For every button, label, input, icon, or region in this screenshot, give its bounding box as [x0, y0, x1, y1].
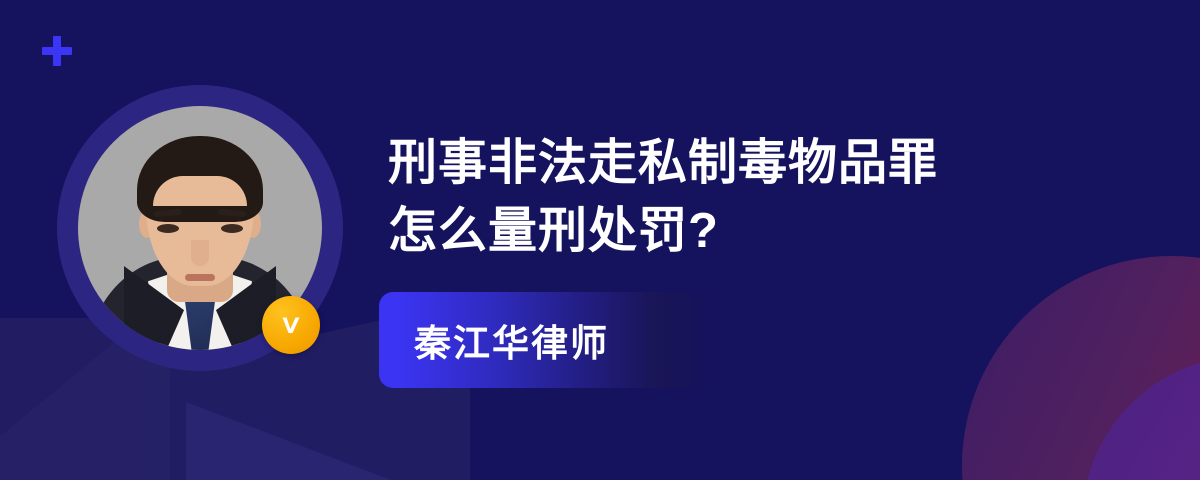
portrait-mouth [185, 274, 215, 281]
plus-icon [42, 36, 72, 66]
portrait-hair [137, 136, 263, 222]
question-title: 刑事非法走私制毒物品罪 怎么量刑处罚? [388, 130, 1088, 265]
portrait-nose [191, 240, 209, 266]
lawyer-name-badge[interactable]: 秦江华律师 [379, 292, 719, 388]
lawyer-question-banner: 刑事非法走私制毒物品罪 怎么量刑处罚? 秦江华律师 [0, 0, 1200, 480]
check-v-icon [276, 310, 306, 340]
portrait-eye-left [157, 224, 179, 233]
lawyer-name-label: 秦江华律师 [414, 313, 609, 367]
portrait-eye-right [221, 224, 243, 233]
verified-badge [262, 296, 320, 354]
decorative-triangle-center [186, 402, 396, 480]
